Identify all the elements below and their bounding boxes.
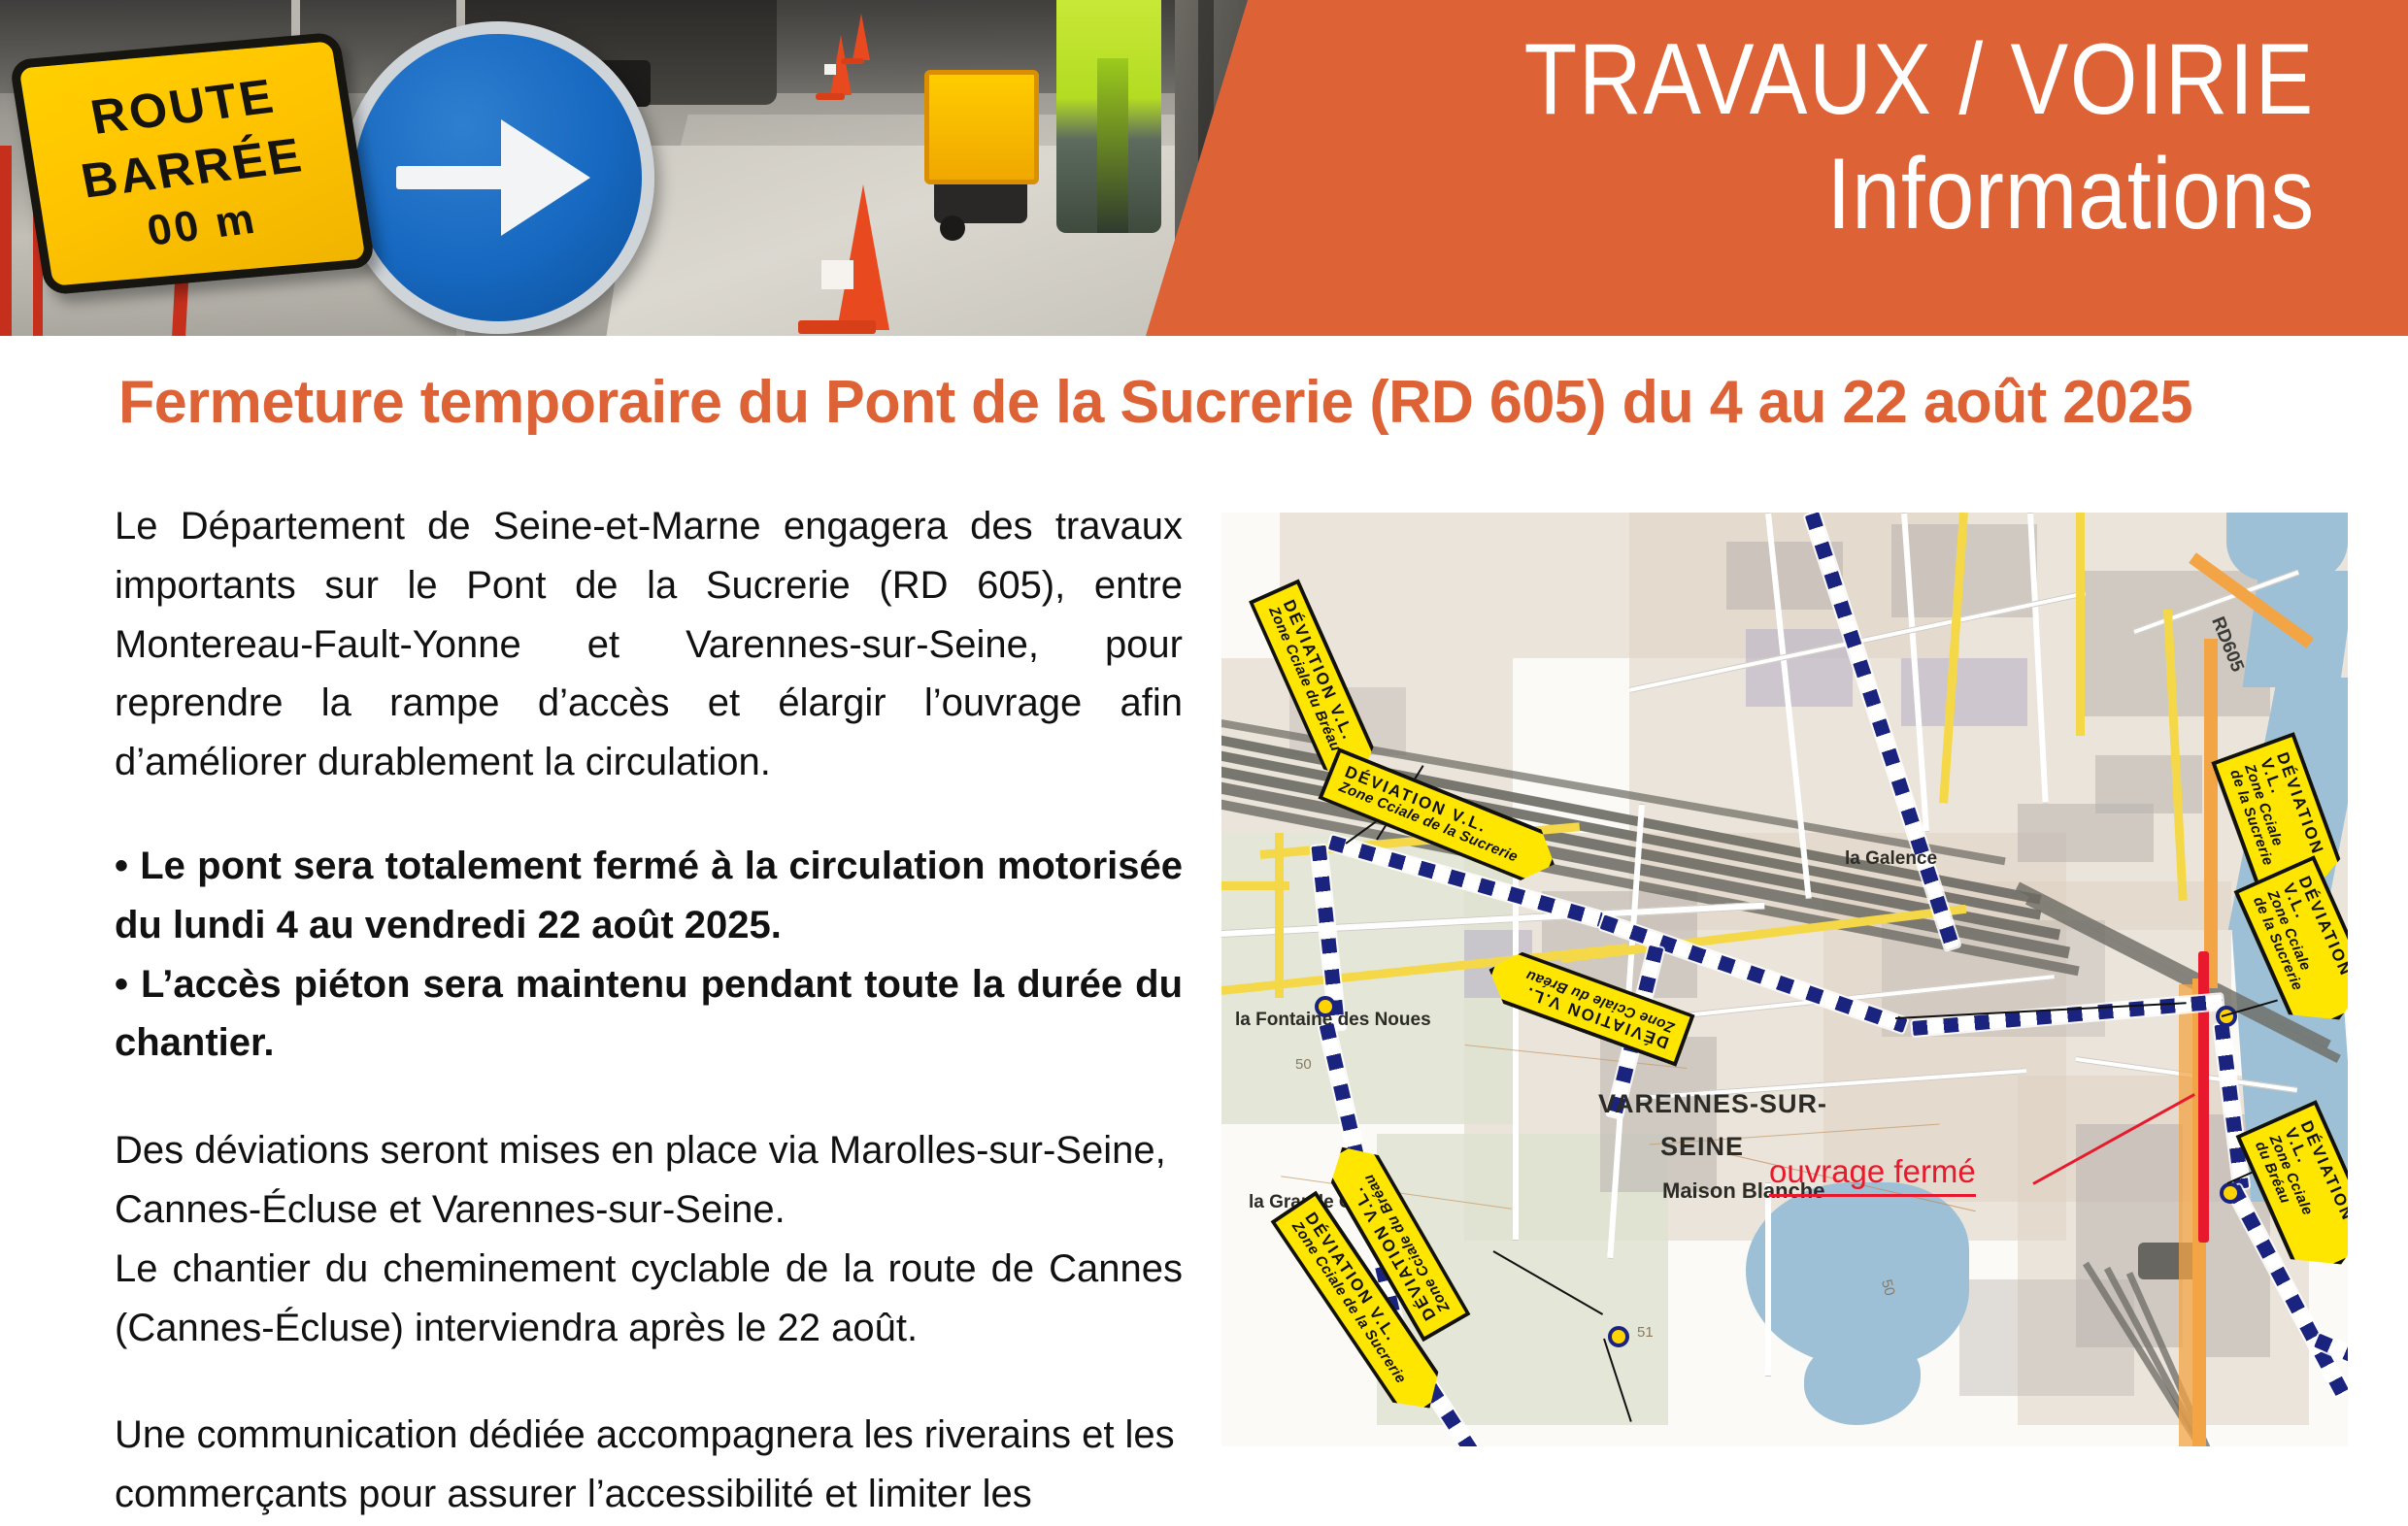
roundabout-marker	[1608, 1326, 1629, 1347]
paragraph-communication: Une communication dédiée accompagnera le…	[115, 1406, 1183, 1526]
photo-cart-wheel	[940, 216, 965, 241]
map-label-varennes-line1: VARENNES-SUR-	[1598, 1089, 1827, 1119]
photo-fence-rail	[0, 146, 12, 336]
map-label-la-galence: la Galence	[1845, 848, 1937, 870]
map-base-layer: la Fontaine des Noues la Galence VARENNE…	[1221, 513, 2348, 1446]
orange-title-banner: TRAVAUX / VOIRIE Informations	[1146, 0, 2408, 336]
bullet-bridge-closed: • Le pont sera totalement fermé à la cir…	[115, 837, 1183, 955]
poster-page: ROUTE BARRÉE 00 m TRAVAUX / VOIRIE Infor…	[0, 0, 2408, 1526]
header-banner-area: ROUTE BARRÉE 00 m TRAVAUX / VOIRIE Infor…	[0, 0, 2408, 336]
map-road-ref-51: 51	[1637, 1324, 1654, 1341]
spacer	[115, 1073, 1183, 1121]
photo-worker-legs	[1097, 58, 1128, 233]
spacer	[115, 792, 1183, 837]
roundabout-marker	[2216, 1006, 2237, 1027]
photo-yellow-cart	[924, 70, 1039, 184]
route-barree-sign: ROUTE BARRÉE 00 m	[9, 32, 376, 296]
banner-title-line1: TRAVAUX / VOIRIE	[1396, 23, 2315, 136]
deviation-map[interactable]: la Fontaine des Noues la Galence VARENNE…	[1221, 513, 2348, 1446]
paragraph-deviations: Des déviations seront mises en place via…	[115, 1121, 1183, 1240]
sign-line-3: 00 m	[143, 194, 260, 255]
article-text-column: Le Département de Seine-et-Marne engager…	[115, 497, 1183, 1526]
page-title: Fermeture temporaire du Pont de la Sucre…	[118, 371, 2309, 434]
roundabout-marker	[2220, 1182, 2241, 1204]
right-arrow-icon	[396, 119, 600, 236]
map-label-fontaine-des-noues: la Fontaine des Noues	[1235, 1010, 1431, 1031]
spacer	[115, 1357, 1183, 1406]
paragraph-intro: Le Département de Seine-et-Marne engager…	[115, 497, 1183, 792]
map-road-ref-50-a: 50	[1295, 1056, 1312, 1073]
map-label-varennes-line2: SEINE	[1660, 1132, 1744, 1162]
bullet-pedestrian-access: • L’accès piéton sera maintenu pendant t…	[115, 955, 1183, 1074]
closed-bridge-label: ouvrage fermé	[1769, 1153, 1976, 1197]
paragraph-cycle-path: Le chantier du cheminement cyclable de l…	[115, 1240, 1183, 1358]
banner-title-line2: Informations	[1396, 136, 2315, 253]
mandatory-right-turn-sign	[342, 21, 654, 334]
